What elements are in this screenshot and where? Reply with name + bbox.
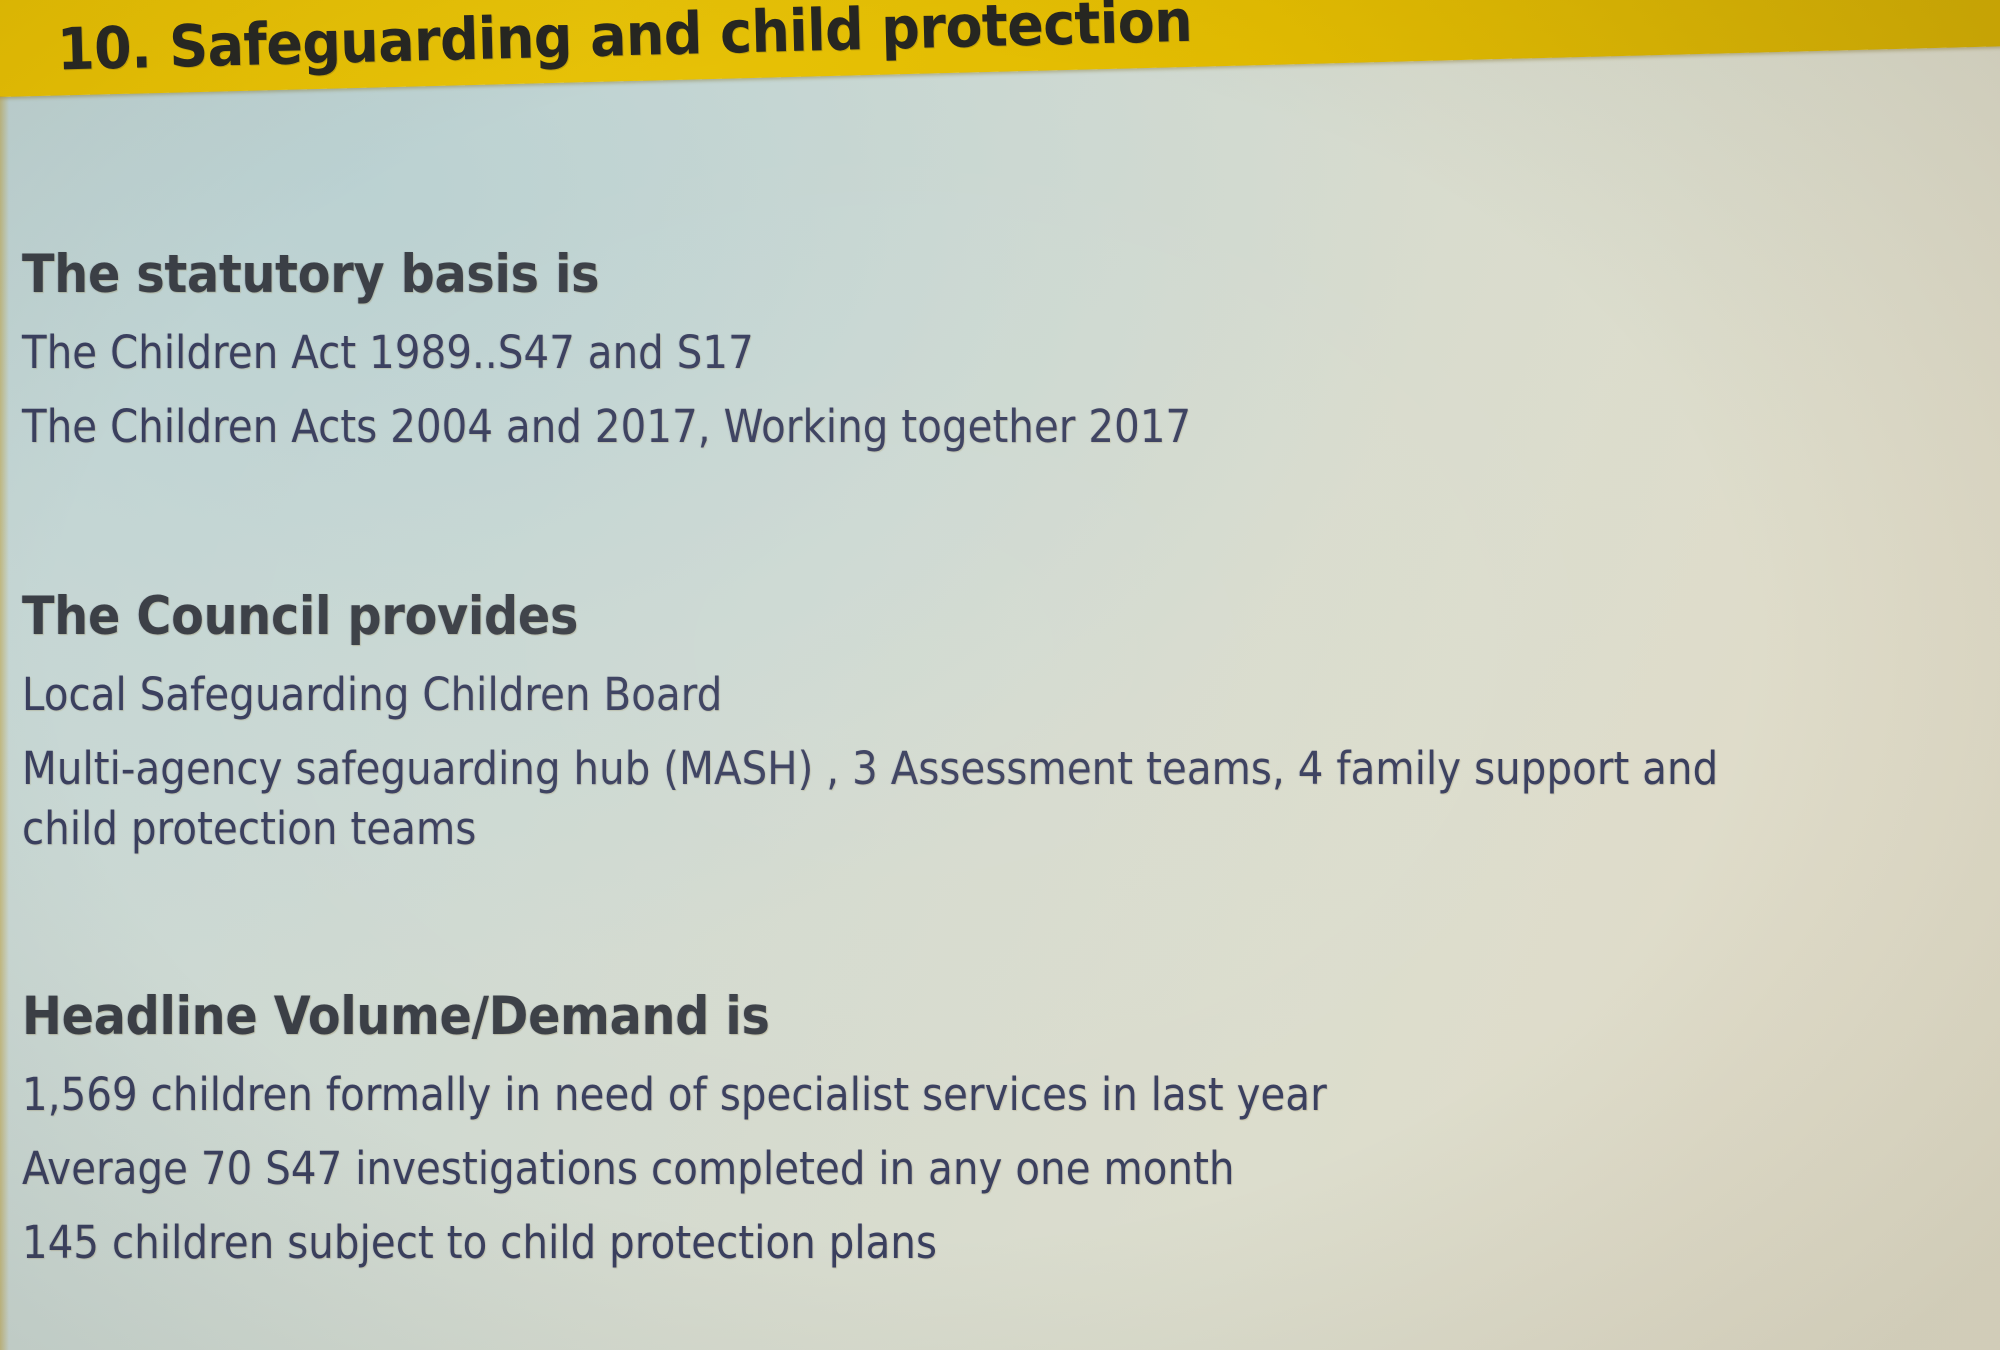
presentation-slide: 10. Safeguarding and child protection Th… (0, 0, 2000, 1350)
council-provides-line-2: Multi-agency safeguarding hub (MASH) , 3… (22, 739, 1776, 859)
section-council-provides: The Council provides Local Safeguarding … (22, 590, 1982, 859)
statutory-basis-line-1: The Children Act 1989..S47 and S17 (22, 323, 1776, 383)
section-statutory-basis: The statutory basis is The Children Act … (22, 248, 1982, 457)
council-provides-line-1: Local Safeguarding Children Board (22, 665, 1776, 725)
slide-body: The statutory basis is The Children Act … (0, 120, 2000, 1350)
statutory-basis-line-2: The Children Acts 2004 and 2017, Working… (22, 397, 1776, 457)
section-heading-council-provides: The Council provides (22, 590, 1786, 643)
section-heading-headline-volume-demand: Headline Volume/Demand is (22, 990, 1786, 1043)
slide-title: 10. Safeguarding and child protection (56, 0, 1193, 84)
section-headline-volume-demand: Headline Volume/Demand is 1,569 children… (22, 990, 1982, 1273)
section-heading-statutory-basis: The statutory basis is (22, 248, 1786, 301)
headline-line-1: 1,569 children formally in need of speci… (22, 1065, 1776, 1125)
headline-line-2: Average 70 S47 investigations completed … (22, 1139, 1776, 1199)
title-band: 10. Safeguarding and child protection (0, 0, 2000, 98)
headline-line-3: 145 children subject to child protection… (22, 1213, 1776, 1273)
